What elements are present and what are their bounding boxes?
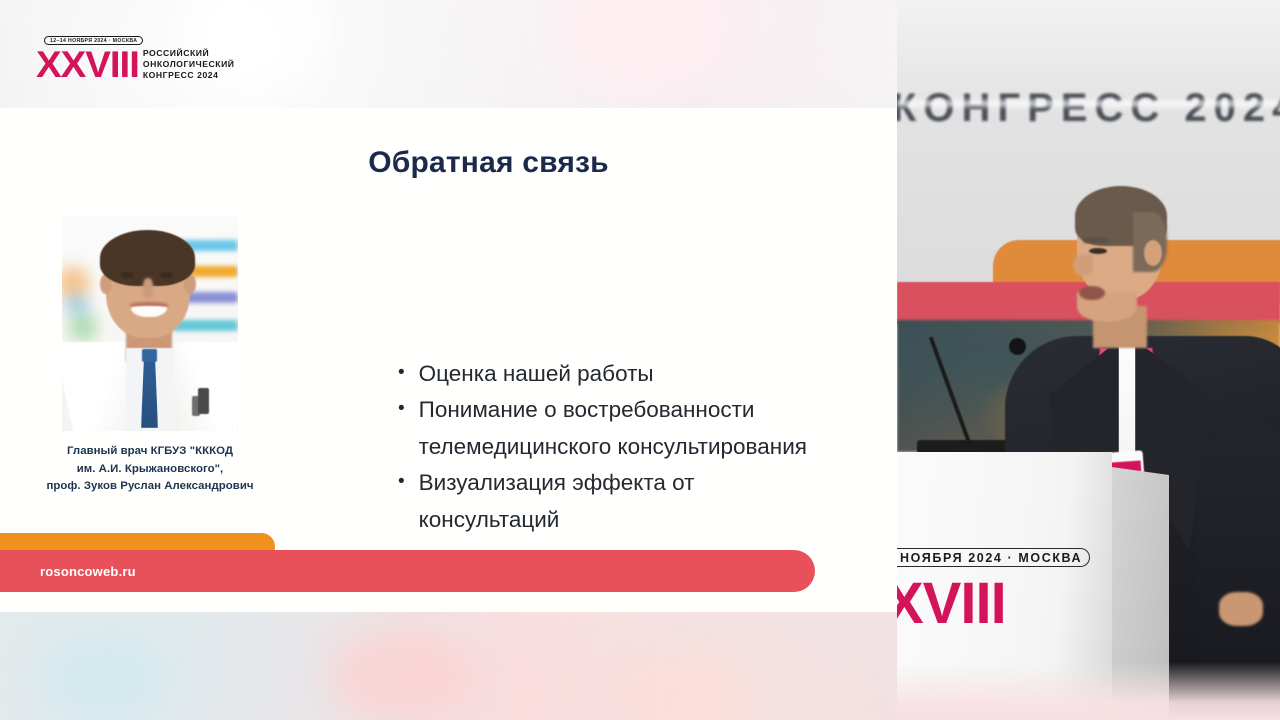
video-bottom-haze bbox=[897, 662, 1280, 720]
portrait-eyebrow-right bbox=[158, 265, 175, 269]
podium-date-text: НОЯБРЯ 2024 · МОСКВА bbox=[897, 548, 1090, 567]
portrait-bokeh bbox=[64, 294, 90, 316]
bokeh-light bbox=[40, 640, 160, 720]
list-item: • Оценка нашей работы bbox=[398, 356, 828, 392]
bullet-dot-icon: • bbox=[398, 392, 405, 425]
portrait-eyebrow-left bbox=[119, 265, 136, 269]
portrait-eye-left bbox=[121, 272, 134, 278]
congress-logo: 12–14 НОЯБРЯ 2024 · МОСКВА XXVIII РОССИЙ… bbox=[38, 48, 235, 81]
microphone-icon bbox=[1009, 338, 1026, 355]
logo-roman-numeral: XXVIII bbox=[36, 49, 139, 82]
logo-line-3: КОНГРЕСС 2024 bbox=[143, 70, 235, 81]
doctor-portrait-photo bbox=[62, 216, 238, 431]
logo-wordmark: РОССИЙСКИЙ ОНКОЛОГИЧЕСКИЙ КОНГРЕСС 2024 bbox=[143, 48, 235, 81]
video-backdrop-text: КОНГРЕСС 2024 bbox=[897, 86, 1280, 131]
bullet-dot-icon: • bbox=[398, 356, 405, 389]
speaker-eye bbox=[1089, 248, 1107, 254]
caption-line-3: проф. Зуков Руслан Александрович bbox=[12, 478, 288, 496]
bullet-text: Понимание о востребованности телемедицин… bbox=[419, 392, 828, 465]
slide-title: Обратная связь bbox=[0, 146, 897, 180]
speaker-photo-block: Главный врач КГБУЗ "КККОД им. А.И. Крыжа… bbox=[62, 216, 238, 496]
portrait-bokeh bbox=[68, 312, 98, 342]
video-backdrop-band bbox=[897, 100, 1280, 107]
speaker-hand bbox=[1219, 592, 1263, 626]
slide-bullet-list: • Оценка нашей работы • Понимание о вост… bbox=[398, 356, 828, 538]
speaker-photo-caption: Главный врач КГБУЗ "КККОД им. А.И. Крыжа… bbox=[12, 443, 288, 496]
speaker-ear bbox=[1144, 240, 1162, 266]
speaker-eyebrow bbox=[1083, 238, 1109, 243]
portrait-stripe bbox=[172, 320, 238, 331]
podium-date-badge: НОЯБРЯ 2024 · МОСКВА bbox=[897, 548, 1081, 567]
list-item: • Понимание о востребованности телемедиц… bbox=[398, 392, 828, 465]
bokeh-light bbox=[330, 630, 470, 720]
speaker-nose bbox=[1073, 254, 1093, 276]
speaker-video-feed: КОНГРЕСС 2024 НОЯБРЯ 2024 · МОСКВА XVIII bbox=[897, 0, 1280, 720]
logo-line-2: ОНКОЛОГИЧЕСКИЙ bbox=[143, 59, 235, 70]
portrait-hair-shade bbox=[102, 246, 194, 280]
speaker-mouth bbox=[1079, 286, 1105, 300]
caption-line-1: Главный врач КГБУЗ "КККОД bbox=[12, 443, 288, 461]
bullet-text: Оценка нашей работы bbox=[419, 356, 828, 392]
list-item: • Визуализация эффекта от консультаций bbox=[398, 465, 828, 538]
logo-line-1: РОССИЙСКИЙ bbox=[143, 48, 235, 59]
podium-roman-numeral: XVIII bbox=[897, 570, 1006, 637]
portrait-pocket-pen bbox=[198, 388, 209, 414]
slide-footer-url: rosoncoweb.ru bbox=[40, 564, 136, 579]
bullet-dot-icon: • bbox=[398, 465, 405, 498]
portrait-eye-right bbox=[160, 272, 173, 278]
presentation-slide: Обратная связь bbox=[0, 108, 897, 612]
portrait-nose bbox=[143, 278, 153, 298]
portrait-tie-knot bbox=[142, 349, 157, 362]
caption-line-2: им. А.И. Крыжановского", bbox=[12, 461, 288, 479]
bullet-text: Визуализация эффекта от консультаций bbox=[419, 465, 828, 538]
